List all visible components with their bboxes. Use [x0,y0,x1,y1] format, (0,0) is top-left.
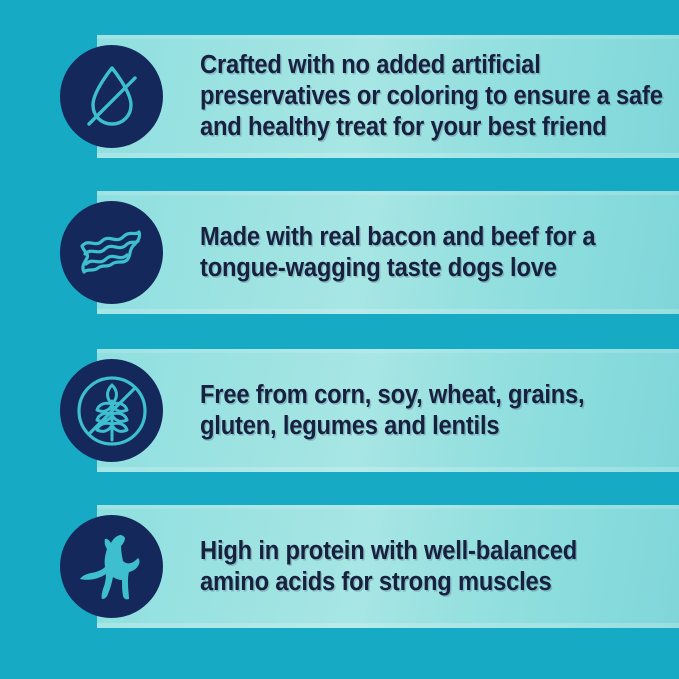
no-grain-wheat-icon [60,359,163,462]
feature-text-line: Crafted with no added artificial [200,50,638,81]
feature-text-line: preservatives or coloring to ensure a sa… [200,81,638,112]
feature-row: Made with real bacon and beef for a tong… [0,191,679,314]
feature-row: Crafted with no added artificial preserv… [0,35,679,158]
feature-text: Crafted with no added artificial preserv… [200,35,671,158]
feature-text: High in protein with well-balanced amino… [200,505,671,628]
feature-text: Made with real bacon and beef for a tong… [200,191,671,314]
feature-text-line: Free from corn, soy, wheat, grains, [200,380,638,411]
feature-text-line: amino acids for strong muscles [200,567,638,598]
bacon-strip-icon [60,201,163,304]
feature-text-line: and healthy treat for your best friend [200,112,638,143]
no-artificial-droplet-icon [60,45,163,148]
feature-text-line: tongue-wagging taste dogs love [200,253,638,284]
feature-text-line: High in protein with well-balanced [200,536,638,567]
feature-row: High in protein with well-balanced amino… [0,505,679,628]
feature-text: Free from corn, soy, wheat, grains, glut… [200,349,671,472]
feature-row: Free from corn, soy, wheat, grains, glut… [0,349,679,472]
feature-text-line: Made with real bacon and beef for a [200,222,638,253]
dog-silhouette-icon [60,515,163,618]
product-benefits-infographic: Crafted with no added artificial preserv… [0,0,679,679]
feature-text-line: gluten, legumes and lentils [200,411,638,442]
